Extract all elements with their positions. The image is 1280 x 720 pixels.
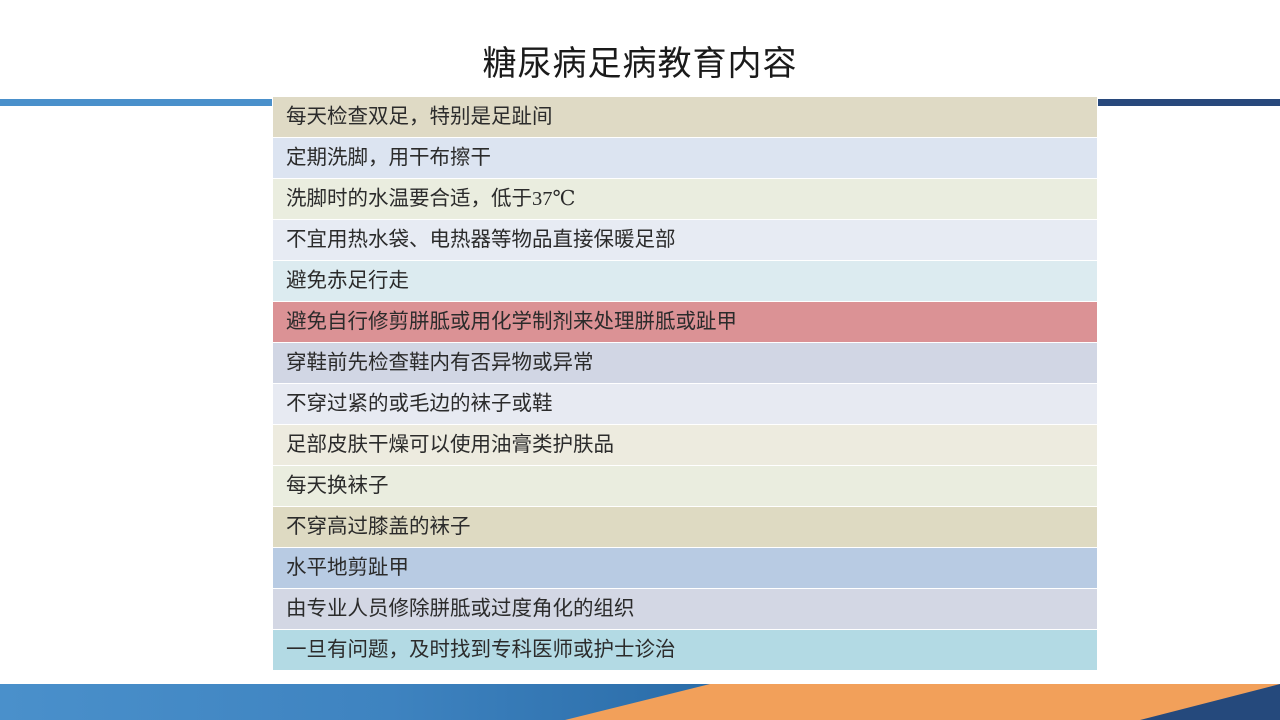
- table-row: 穿鞋前先检查鞋内有否异物或异常: [273, 343, 1097, 383]
- table-cell-content: 一旦有问题，及时找到专科医师或护士诊治: [273, 630, 1097, 670]
- table-row: 不宜用热水袋、电热器等物品直接保暖足部: [273, 220, 1097, 260]
- table-cell-content: 避免自行修剪胼胝或用化学制剂来处理胼胝或趾甲: [273, 302, 1097, 342]
- table-row: 不穿过紧的或毛边的袜子或鞋: [273, 384, 1097, 424]
- bottom-decoration: [0, 684, 1280, 720]
- table-row: 每天检查双足，特别是足趾间: [273, 97, 1097, 137]
- header-rule-right: [1098, 99, 1280, 106]
- table-row: 由专业人员修除胼胝或过度角化的组织: [273, 589, 1097, 629]
- table-row: 水平地剪趾甲: [273, 548, 1097, 588]
- table-row: 每天换袜子: [273, 466, 1097, 506]
- table-cell-content: 穿鞋前先检查鞋内有否异物或异常: [273, 343, 1097, 383]
- table-cell-content: 定期洗脚，用干布擦干: [273, 138, 1097, 178]
- header-rule-left: [0, 99, 272, 106]
- table-cell-content: 避免赤足行走: [273, 261, 1097, 301]
- table-row: 避免自行修剪胼胝或用化学制剂来处理胼胝或趾甲: [273, 302, 1097, 342]
- table-cell-content: 水平地剪趾甲: [273, 548, 1097, 588]
- table-row: 避免赤足行走: [273, 261, 1097, 301]
- table-cell-content: 每天检查双足，特别是足趾间: [273, 97, 1097, 137]
- table-row: 定期洗脚，用干布擦干: [273, 138, 1097, 178]
- table-cell-content: 每天换袜子: [273, 466, 1097, 506]
- table-cell-content: 不穿过紧的或毛边的袜子或鞋: [273, 384, 1097, 424]
- slide-canvas: 糖尿病足病教育内容 每天检查双足，特别是足趾间定期洗脚，用干布擦干洗脚时的水温要…: [0, 0, 1280, 720]
- table-row: 不穿高过膝盖的袜子: [273, 507, 1097, 547]
- table-cell-content: 不宜用热水袋、电热器等物品直接保暖足部: [273, 220, 1097, 260]
- table-row: 足部皮肤干燥可以使用油膏类护肤品: [273, 425, 1097, 465]
- table-cell-content: 洗脚时的水温要合适，低于37℃: [273, 179, 1097, 219]
- table-cell-content: 足部皮肤干燥可以使用油膏类护肤品: [273, 425, 1097, 465]
- table-cell-content: 由专业人员修除胼胝或过度角化的组织: [273, 589, 1097, 629]
- table-row: 一旦有问题，及时找到专科医师或护士诊治: [273, 630, 1097, 670]
- table-body: 每天检查双足，特别是足趾间定期洗脚，用干布擦干洗脚时的水温要合适，低于37℃不宜…: [273, 97, 1097, 670]
- table-cell-content: 不穿高过膝盖的袜子: [273, 507, 1097, 547]
- table-row: 洗脚时的水温要合适，低于37℃: [273, 179, 1097, 219]
- page-title: 糖尿病足病教育内容: [0, 42, 1280, 86]
- education-content-table: 每天检查双足，特别是足趾间定期洗脚，用干布擦干洗脚时的水温要合适，低于37℃不宜…: [273, 96, 1097, 671]
